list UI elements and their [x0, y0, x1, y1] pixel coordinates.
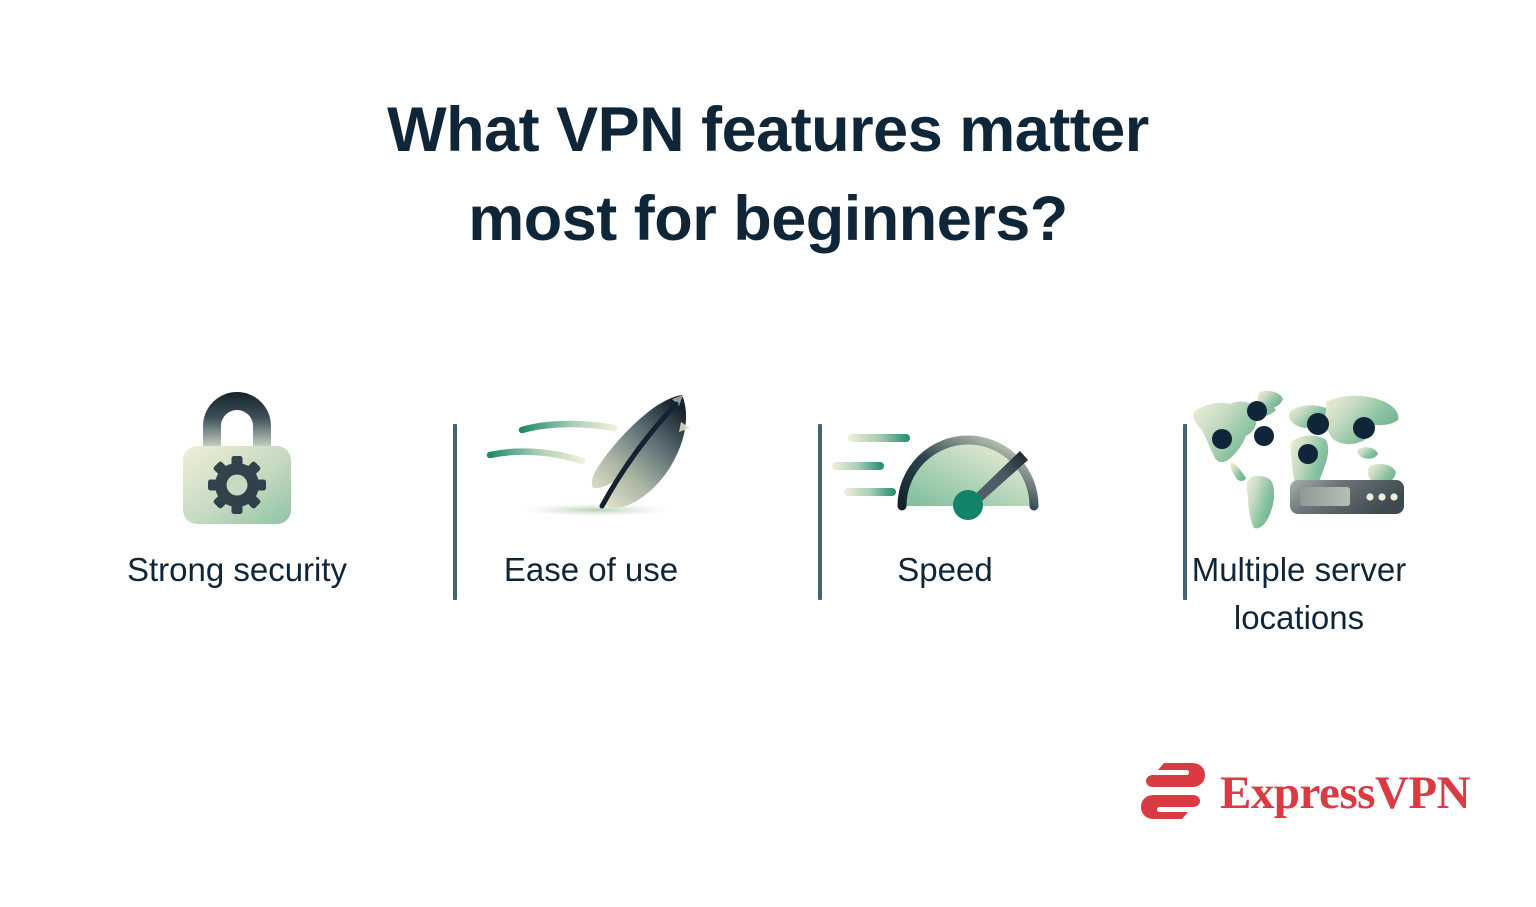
title-line-1: What VPN features matter: [0, 86, 1536, 175]
speedometer-icon: [825, 382, 1065, 532]
feature-list: Strong security: [60, 382, 1476, 632]
title-line-2: most for beginners?: [0, 175, 1536, 264]
feature-label: Multiple server locations: [1149, 546, 1449, 642]
feather-icon: [471, 382, 711, 532]
feature-divider: [818, 424, 822, 600]
feature-item-multiple-server-locations: Multiple server locations: [1122, 382, 1476, 642]
page-title: What VPN features matter most for beginn…: [0, 86, 1536, 265]
feature-item-strong-security: Strong security: [60, 382, 414, 594]
feature-item-ease-of-use: Ease of use: [414, 382, 768, 594]
feature-label: Ease of use: [504, 546, 678, 594]
feature-label: Speed: [897, 546, 992, 594]
expressvpn-e-mark-icon: [1140, 760, 1206, 827]
expressvpn-logo: ExpressVPN: [1140, 760, 1470, 827]
expressvpn-wordmark: ExpressVPN: [1220, 770, 1470, 817]
feature-divider: [453, 424, 457, 600]
feature-label: Strong security: [127, 546, 347, 594]
feature-divider: [1183, 424, 1187, 600]
padlock-gear-icon: [117, 382, 357, 532]
world-map-server-icon: [1179, 382, 1419, 532]
server-device: [1290, 480, 1404, 514]
infographic-canvas: What VPN features matter most for beginn…: [0, 0, 1536, 907]
